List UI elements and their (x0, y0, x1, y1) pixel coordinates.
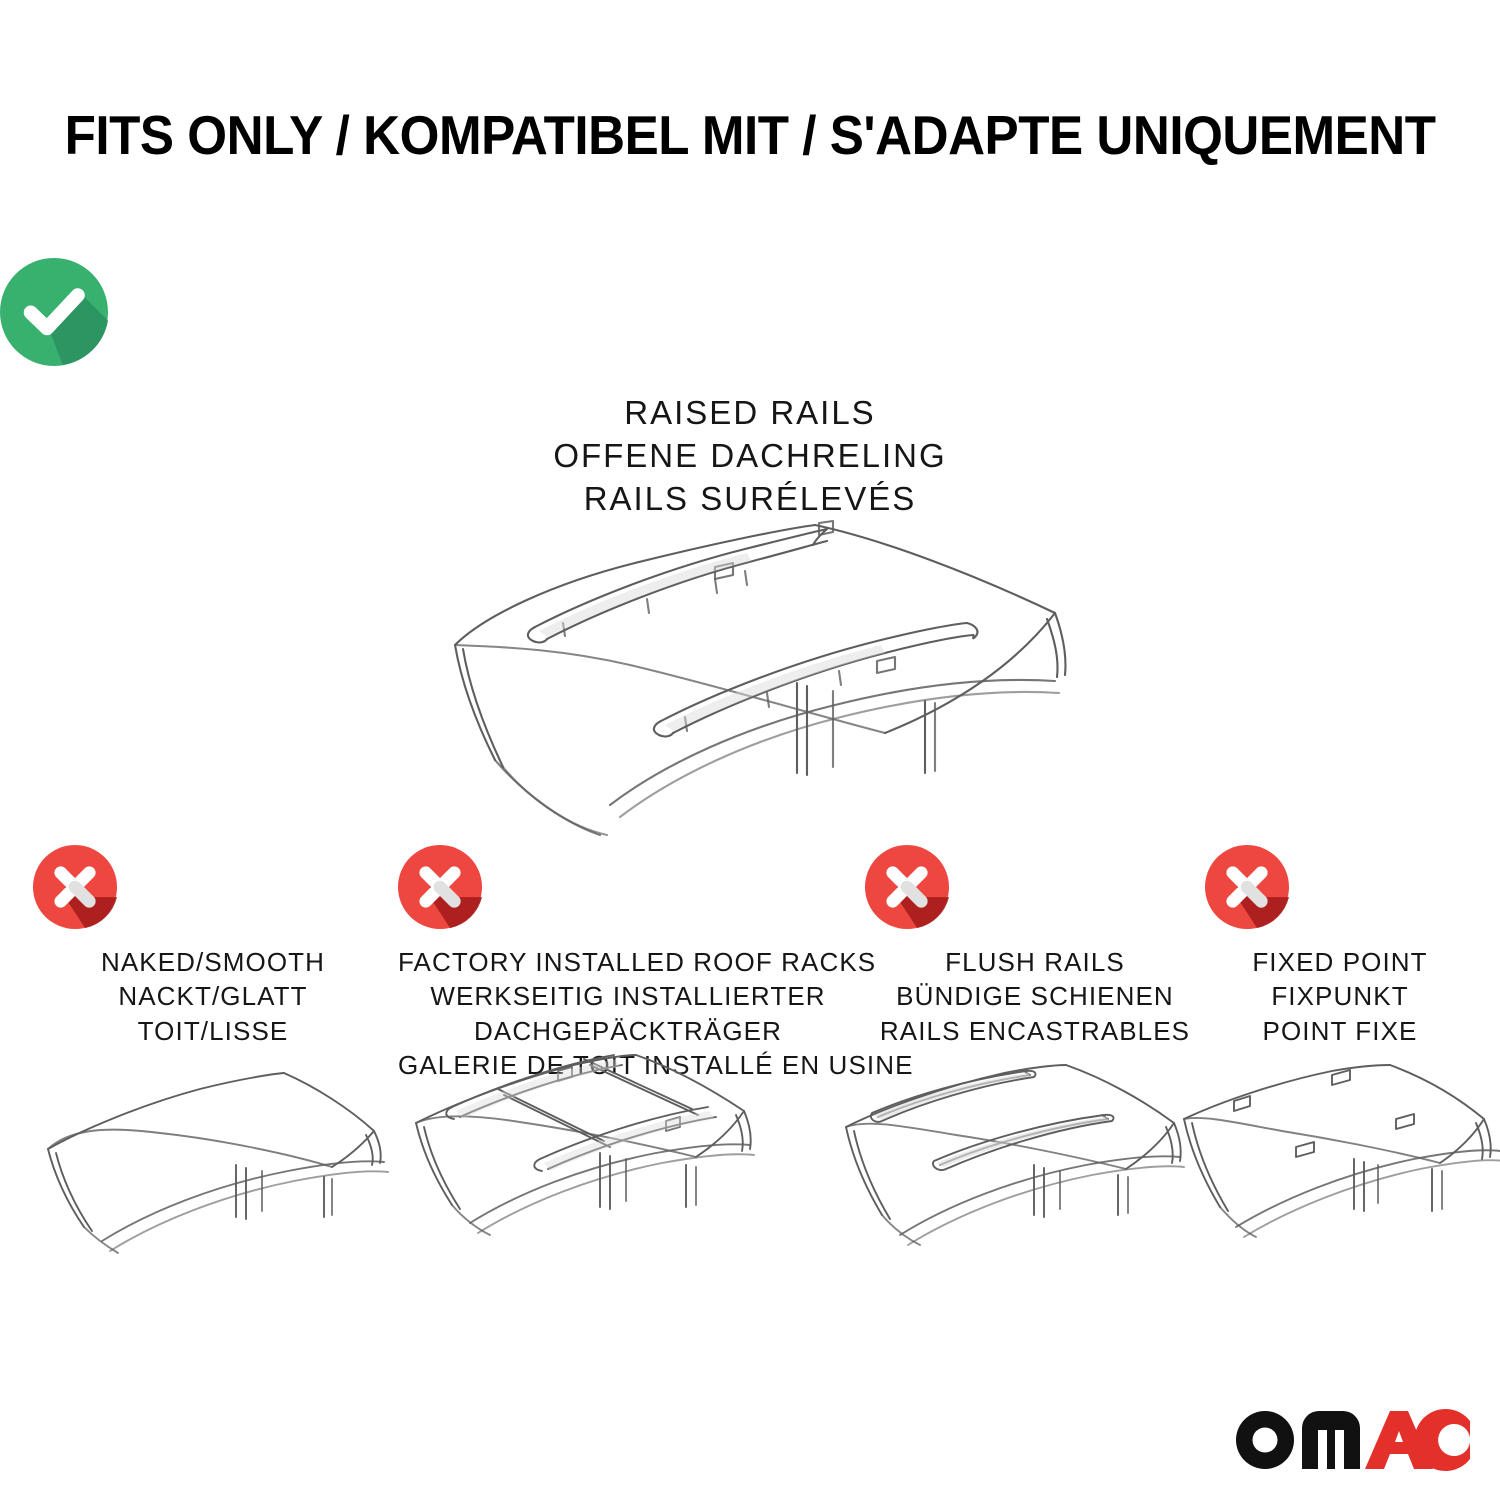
cross-circle-icon (1205, 845, 1475, 929)
incompatible-item-naked-smooth: NAKED/SMOOTH NACKT/GLATT TOIT/LISSE (33, 845, 393, 1048)
incompatible-label-en: FACTORY INSTALLED ROOF RACKS (398, 945, 858, 979)
incompatible-label-de: BÜNDIGE SCHIENEN (865, 979, 1205, 1013)
incompatible-labels: FLUSH RAILS BÜNDIGE SCHIENEN RAILS ENCAS… (865, 945, 1205, 1048)
incompatible-labels: FIXED POINT FIXPUNKT POINT FIXE (1205, 945, 1475, 1048)
incompatible-label-fr: TOIT/LISSE (33, 1014, 393, 1048)
page-title-bar: FITS ONLY / KOMPATIBEL MIT / S'ADAPTE UN… (0, 108, 1500, 163)
compatible-labels: RAISED RAILS OFFENE DACHRELING RAILS SUR… (0, 392, 1500, 521)
cross-circle-icon (398, 845, 858, 929)
incompatible-label-de-2: DACHGEPÄCKTRÄGER (398, 1014, 858, 1048)
page-title: FITS ONLY / KOMPATIBEL MIT / S'ADAPTE UN… (65, 108, 1436, 163)
logo-letter-o (1236, 1411, 1294, 1469)
incompatible-label-fr: POINT FIXE (1205, 1014, 1475, 1048)
check-circle-icon (0, 258, 1500, 366)
incompatible-label-de: NACKT/GLATT (33, 979, 393, 1013)
incompatible-label-de-1: WERKSEITIG INSTALLIERTER (398, 979, 858, 1013)
omac-logo (1232, 1404, 1472, 1470)
illustration-raised-rails (415, 505, 1105, 835)
incompatible-label-de: FIXPUNKT (1205, 979, 1475, 1013)
illustration-flush-rails (838, 1065, 1223, 1315)
logo-letter-m (1302, 1411, 1360, 1469)
incompatible-label-fr: RAILS ENCASTRABLES (865, 1014, 1205, 1048)
incompatible-label-en: FIXED POINT (1205, 945, 1475, 979)
incompatible-item-factory-roof-racks: FACTORY INSTALLED ROOF RACKS WERKSEITIG … (398, 845, 858, 1082)
incompatible-section: NAKED/SMOOTH NACKT/GLATT TOIT/LISSE FACT… (0, 845, 1500, 1055)
cross-circle-icon (865, 845, 1205, 929)
compatible-label-de: OFFENE DACHRELING (0, 435, 1500, 478)
incompatible-item-flush-rails: FLUSH RAILS BÜNDIGE SCHIENEN RAILS ENCAS… (865, 845, 1205, 1048)
illustration-naked-smooth (40, 1065, 420, 1315)
compatible-section: RAISED RAILS OFFENE DACHRELING RAILS SUR… (0, 258, 1500, 521)
illustration-fixed-point (1178, 1065, 1500, 1315)
incompatible-label-en: NAKED/SMOOTH (33, 945, 393, 979)
incompatible-item-fixed-point: FIXED POINT FIXPUNKT POINT FIXE (1205, 845, 1475, 1048)
incompatible-label-en: FLUSH RAILS (865, 945, 1205, 979)
illustration-factory-roof-racks (408, 1055, 803, 1305)
compatible-label-en: RAISED RAILS (0, 392, 1500, 435)
incompatible-labels: NAKED/SMOOTH NACKT/GLATT TOIT/LISSE (33, 945, 393, 1048)
cross-circle-icon (33, 845, 393, 929)
